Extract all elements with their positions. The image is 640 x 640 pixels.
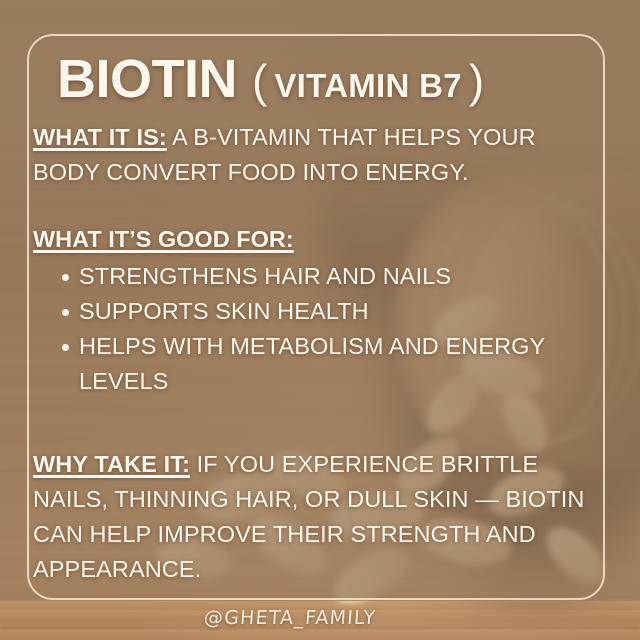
card-content: BIOTIN ( VITAMIN B7 ) WHAT IT IS: A B-VI…: [33, 52, 611, 591]
what-it-is-paragraph: WHAT IT IS: A B-VITAMIN THAT HELPS YOUR …: [33, 120, 606, 190]
list-item: SUPPORTS SKIN HEALTH: [33, 294, 563, 329]
section-what-its-good-for: WHAT IT’S GOOD FOR: STRENGTHENS HAIR AND…: [33, 222, 611, 399]
list-item: STRENGTHENS HAIR AND NAILS: [33, 259, 563, 294]
list-item: HELPS WITH METABOLISM AND ENERGY LEVELS: [33, 329, 563, 399]
title-paren-close: ): [469, 58, 484, 104]
infographic-card: BIOTIN ( VITAMIN B7 ) WHAT IT IS: A B-VI…: [0, 0, 640, 640]
section-why-take-it: WHY TAKE IT: IF YOU EXPERIENCE BRITTLE N…: [33, 447, 611, 587]
watermark-handle: @GHETA_FAMILY: [0, 607, 640, 629]
what-its-good-for-heading: WHAT IT’S GOOD FOR:: [33, 222, 611, 257]
title-main: BIOTIN: [57, 52, 237, 106]
title-subtitle: VITAMIN B7: [274, 69, 462, 102]
why-take-it-paragraph: WHY TAKE IT: IF YOU EXPERIENCE BRITTLE N…: [33, 447, 606, 587]
page-title: BIOTIN ( VITAMIN B7 ): [57, 52, 611, 106]
why-take-it-label: WHY TAKE IT:: [33, 451, 190, 477]
section-what-it-is: WHAT IT IS: A B-VITAMIN THAT HELPS YOUR …: [33, 120, 611, 190]
what-it-is-label: WHAT IT IS:: [33, 124, 167, 150]
benefits-list: STRENGTHENS HAIR AND NAILS SUPPORTS SKIN…: [33, 259, 611, 399]
title-paren-open: (: [252, 58, 267, 104]
